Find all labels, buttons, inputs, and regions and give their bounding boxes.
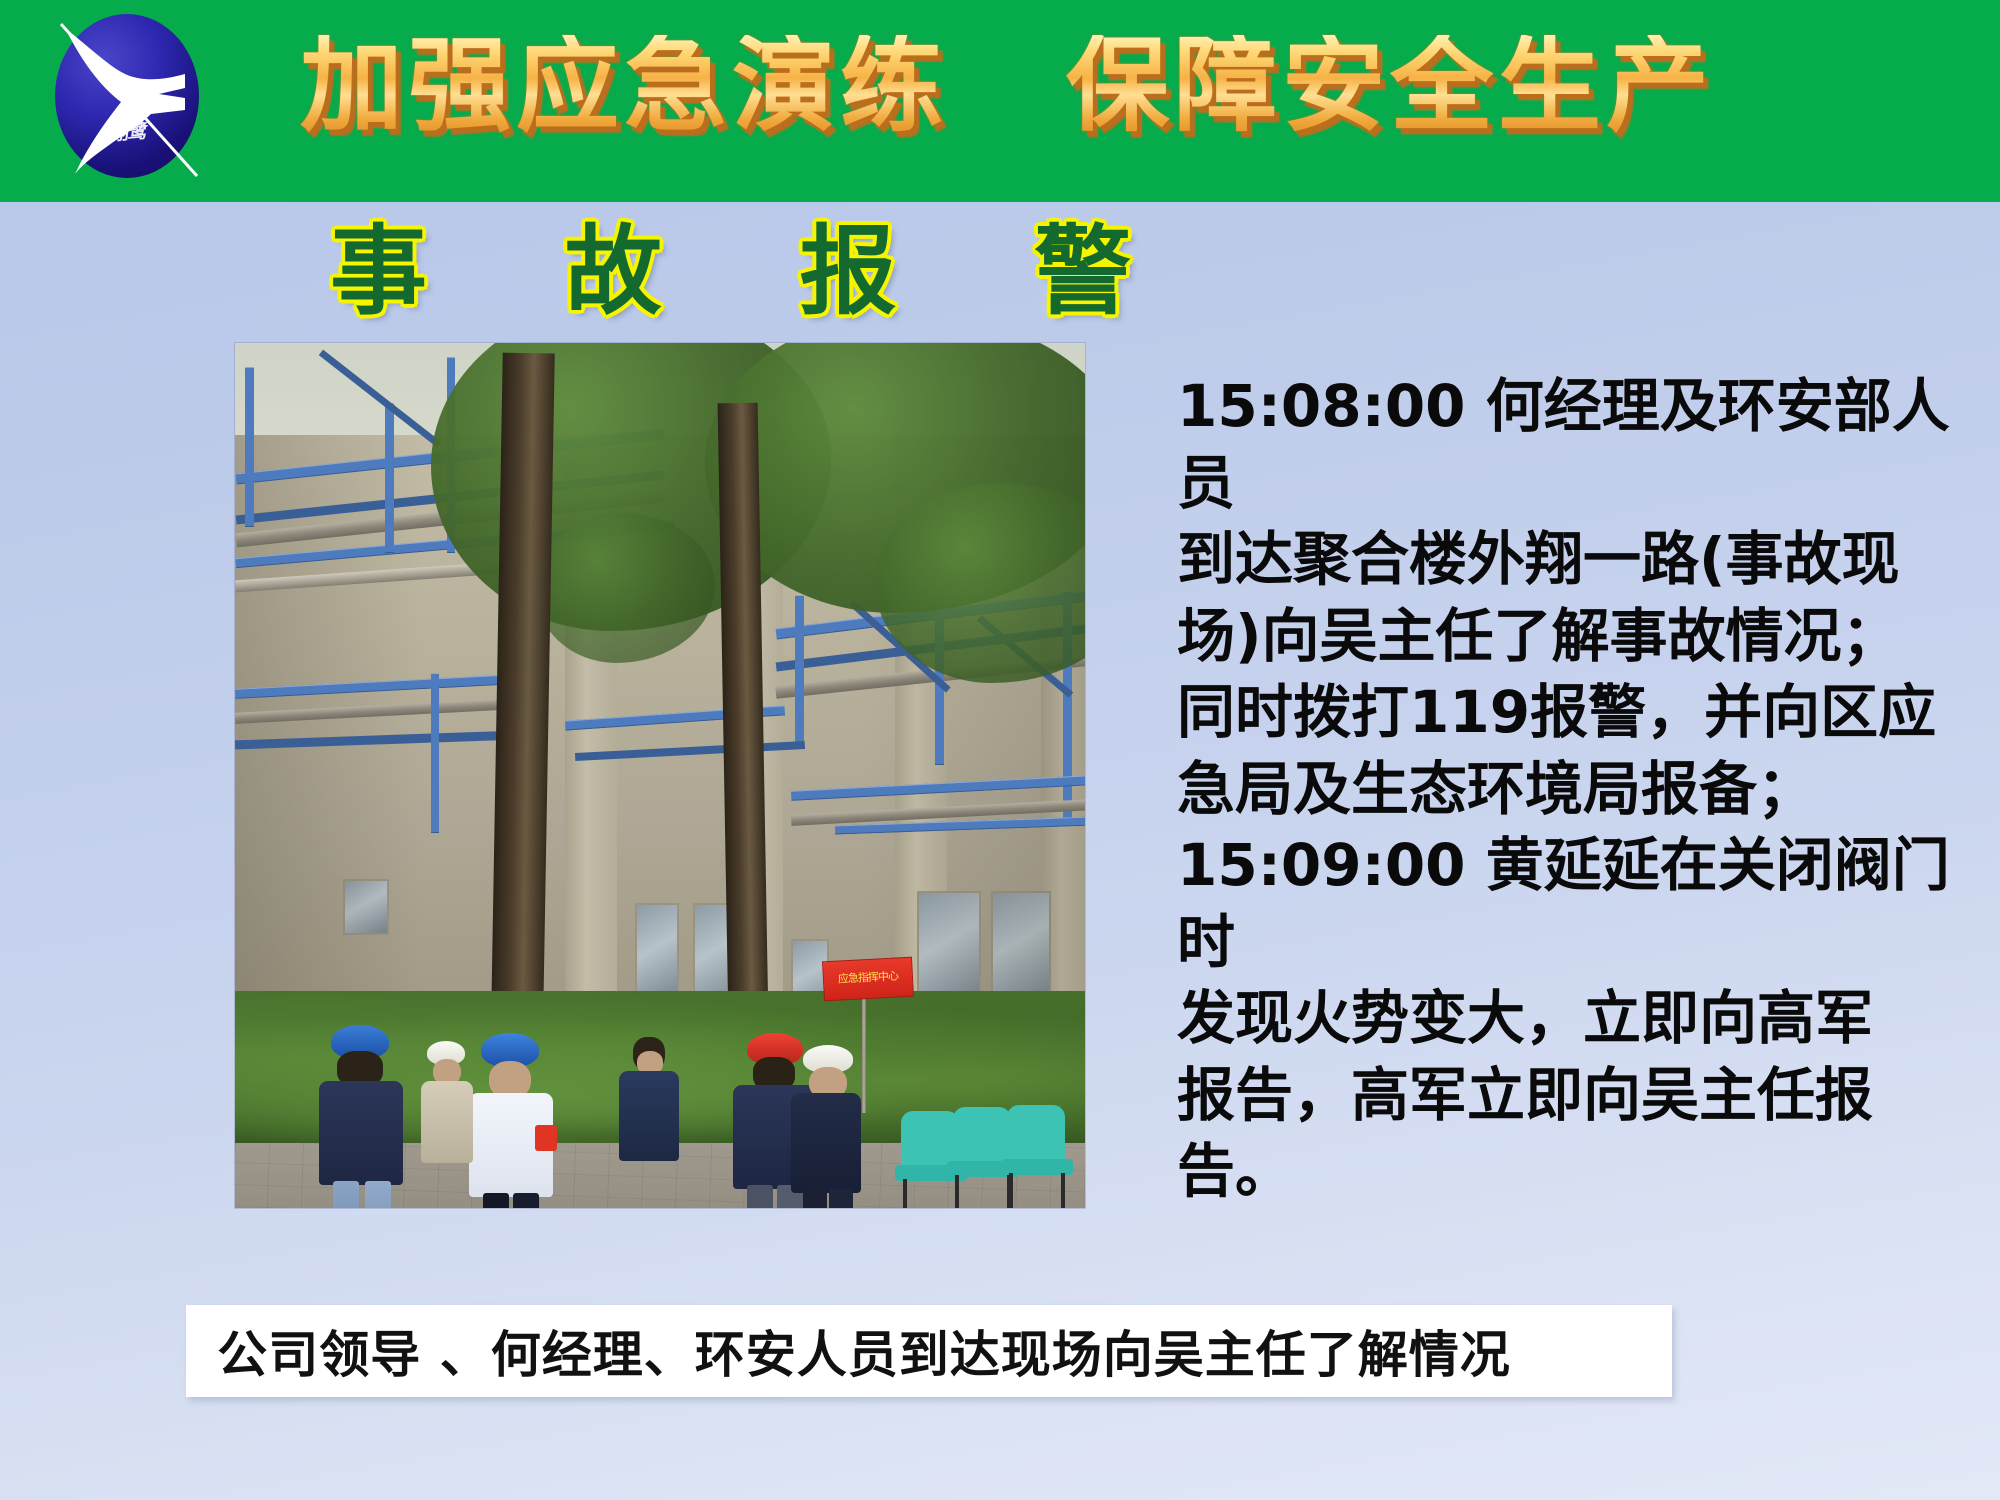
photo-person (463, 1033, 561, 1208)
narrative-line: 告。 (1177, 1133, 1977, 1210)
photo-pipe-rack-post (795, 595, 804, 745)
photo-person (787, 1045, 867, 1208)
bird-swoosh-logo-icon (47, 8, 207, 186)
photo-person (315, 1025, 413, 1208)
photo-chair-leg (903, 1179, 907, 1208)
narrative-line: 15:08:00 何经理及环安部人员 (1177, 368, 1977, 521)
company-logo: 翔鹭 (47, 8, 207, 186)
photo-chair (1001, 1105, 1075, 1208)
photo-leg (803, 1189, 827, 1208)
narrative-line: 到达聚合楼外翔一路(事故现 (1177, 521, 1977, 598)
narrative-text: 15:08:00 何经理及环安部人员 到达聚合楼外翔一路(事故现 场)向吴主任了… (1177, 368, 1977, 1210)
narrative-line: 报告，高军立即向吴主任报 (1177, 1057, 1977, 1134)
photo-emergency-sign: 应急指挥中心 (822, 957, 914, 1002)
photo-emergency-sign-text: 应急指挥中心 (823, 958, 913, 1001)
photo-person (619, 1037, 681, 1197)
photo-red-armband (535, 1125, 557, 1151)
photo-person (419, 1041, 475, 1171)
narrative-line: 同时拨打119报警，并向区应 (1177, 674, 1977, 751)
photo-leg (333, 1181, 359, 1208)
narrative-line: 发现火势变大，立即向高军 (1177, 980, 1977, 1057)
logo-wordmark: 翔鹭 (88, 113, 168, 155)
photo-caption-box: 公司领导 、何经理、环安人员到达现场向吴主任了解情况 (186, 1305, 1672, 1397)
photo-torso (791, 1093, 861, 1193)
photo-leg (747, 1185, 773, 1208)
photo-pipe-rack-post (431, 673, 439, 833)
photo-torso (319, 1081, 403, 1185)
slide-root: 翔鹭 加强应急演练 保障安全生产 事 故 报 警 (0, 0, 2000, 1500)
header-banner: 翔鹭 加强应急演练 保障安全生产 (0, 0, 2000, 202)
photo-pipe-rack-post (385, 403, 394, 553)
photo-caption-text: 公司领导 、何经理、环安人员到达现场向吴主任了解情况 (217, 1315, 1510, 1387)
scene-photo: 应急指挥中心 (235, 343, 1085, 1208)
narrative-line: 急局及生态环境局报备； (1177, 751, 1977, 828)
photo-leg (483, 1193, 509, 1208)
page-title: 事 故 报 警 (330, 218, 1183, 327)
photo-leg (829, 1189, 853, 1208)
photo-chair-leg (1009, 1173, 1013, 1208)
photo-pipe-rack-post (245, 367, 254, 527)
banner-title-right: 保障安全生产 (1066, 35, 1714, 138)
photo-leg (513, 1193, 539, 1208)
banner-title-left: 加强应急演练 (300, 35, 948, 138)
narrative-line: 15:09:00 黄延延在关闭阀门时 (1177, 827, 1977, 980)
photo-leg (365, 1181, 391, 1208)
banner-title: 加强应急演练 保障安全生产 (300, 24, 1960, 149)
photo-torso (421, 1081, 473, 1163)
photo-chair-leg (1061, 1173, 1065, 1208)
photo-chair-back (1007, 1105, 1065, 1163)
photo-chair-leg (955, 1175, 959, 1208)
narrative-line: 场)向吴主任了解事故情况； (1177, 598, 1977, 675)
photo-torso (619, 1071, 679, 1161)
